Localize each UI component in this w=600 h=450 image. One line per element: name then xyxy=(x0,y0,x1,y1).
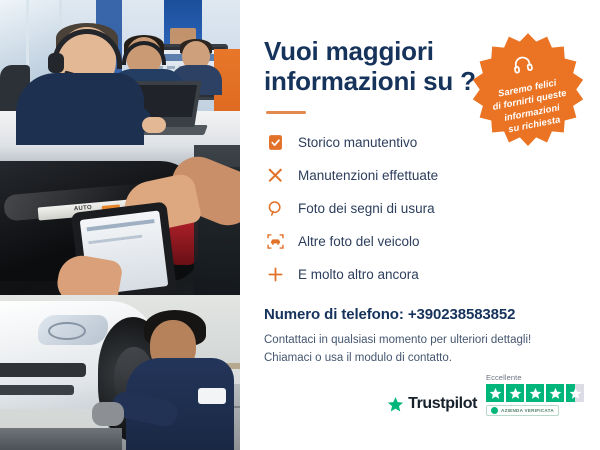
trustpilot-stars xyxy=(486,384,584,402)
list-item: Altre foto del veicolo xyxy=(264,227,574,255)
starburst-shape xyxy=(464,30,592,154)
list-item: Foto dei segni di usura xyxy=(264,194,574,222)
check-circle-icon xyxy=(491,407,498,414)
list-item-label: Storico manutentivo xyxy=(298,135,417,150)
crossed-tools-icon xyxy=(264,164,286,186)
trustpilot-star-icon xyxy=(387,396,404,413)
phone-number[interactable]: Numero di telefono: +390238583852 xyxy=(264,306,574,323)
promo-banner: Vuoi maggiori informazioni su ? Storico … xyxy=(0,0,600,450)
callout-badge: Saremo felici di fornirti queste informa… xyxy=(464,30,592,154)
clipboard-check-icon xyxy=(264,131,286,153)
contact-line-1: Contattaci in qualsiasi momento per ulte… xyxy=(264,332,574,350)
front-grille xyxy=(0,363,86,377)
trustpilot-brand-name: Trustpilot xyxy=(408,395,477,413)
verified-label: AZIENDA VERIFICATA xyxy=(501,408,554,413)
star-filled-2 xyxy=(506,384,524,402)
star-half-5 xyxy=(566,384,584,402)
list-item: E molto altro ancora xyxy=(264,260,574,288)
magnifier-icon xyxy=(264,197,286,219)
star-filled-3 xyxy=(526,384,544,402)
list-item: Manutenzioni effettuate xyxy=(264,161,574,189)
car-scan-frame-icon xyxy=(264,230,286,252)
lower-grille xyxy=(0,385,74,395)
list-item-label: Manutenzioni effettuate xyxy=(298,168,438,183)
photo-column xyxy=(0,0,240,450)
list-item-label: Foto dei segni di usura xyxy=(298,201,435,216)
mechanic xyxy=(126,310,234,450)
plus-icon xyxy=(264,263,286,285)
trustpilot-rating-label: Eccellente xyxy=(486,373,522,382)
title-underline xyxy=(266,111,306,114)
verified-company-badge: AZIENDA VERIFICATA xyxy=(486,405,559,416)
mechanic-wheel-photo xyxy=(0,295,240,450)
contact-text: Contattaci in qualsiasi momento per ulte… xyxy=(264,332,574,368)
trustpilot-logo: Trustpilot xyxy=(387,395,477,416)
contact-line-2: Chiamaci o usa il modulo di contatto. xyxy=(264,350,574,368)
list-item-label: E molto altro ancora xyxy=(298,267,419,282)
star-filled-1 xyxy=(486,384,504,402)
vehicle-inspection-photo xyxy=(0,145,240,295)
trustpilot-rating: Eccellente AZIENDA VERIFICATA xyxy=(486,373,584,416)
call-center-agent-photo xyxy=(0,0,240,145)
trustpilot-widget[interactable]: Trustpilot Eccellente AZIENDA VERIFICATA xyxy=(387,373,584,416)
star-filled-4 xyxy=(546,384,564,402)
headset-agent xyxy=(16,23,144,145)
list-item-label: Altre foto del veicolo xyxy=(298,234,420,249)
car-lift-ramp xyxy=(0,428,122,450)
content-panel: Vuoi maggiori informazioni su ? Storico … xyxy=(240,0,600,450)
headlight xyxy=(38,315,108,345)
